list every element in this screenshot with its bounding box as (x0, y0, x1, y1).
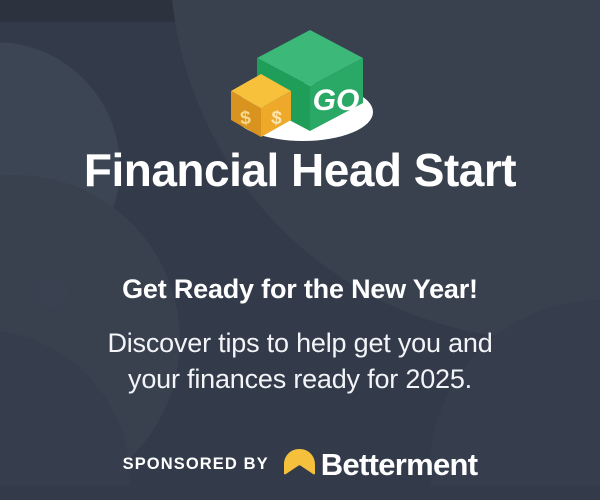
sponsor-row: SPONSORED BY Betterment (0, 444, 600, 484)
body-copy-line-1: Discover tips to help get you and (30, 325, 570, 361)
body-copy: Discover tips to help get you and your f… (30, 325, 570, 397)
background-bottom-band (0, 486, 600, 500)
betterment-logo[interactable]: Betterment (283, 448, 478, 480)
subheadline: Get Ready for the New Year! (0, 274, 600, 305)
betterment-dome-icon (283, 448, 316, 480)
ad-banner[interactable]: GO $ $ Financial Head Start Get Ready fo… (0, 0, 600, 500)
sponsored-by-label: SPONSORED BY (123, 455, 269, 474)
go-money-cubes-icon: GO $ $ (0, 18, 600, 148)
page-title: Financial Head Start (0, 144, 600, 197)
svg-text:GO: GO (313, 84, 360, 117)
body-copy-line-2: your finances ready for 2025. (30, 361, 570, 397)
betterment-wordmark: Betterment (321, 449, 478, 480)
